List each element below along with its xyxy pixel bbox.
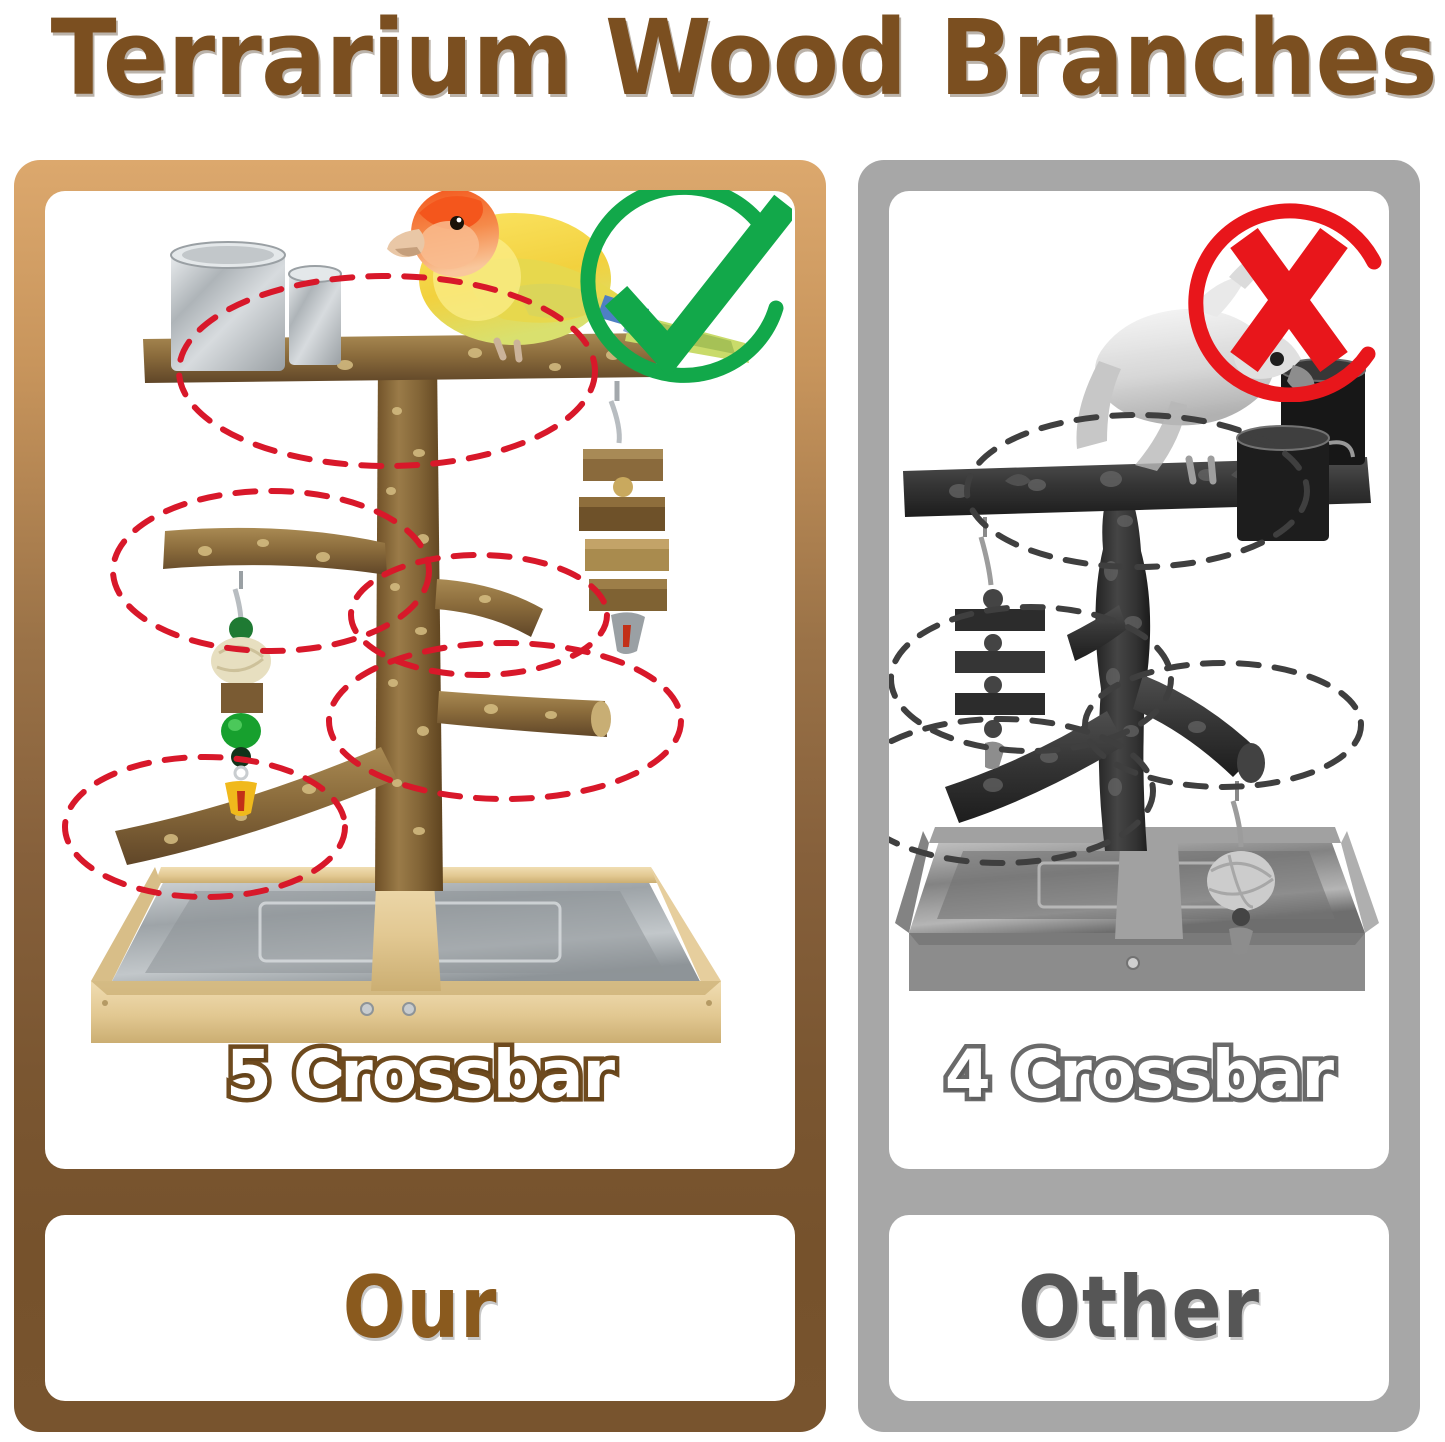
- footer-card-our: Our: [45, 1215, 795, 1401]
- red-cross-circle-icon: [1178, 196, 1400, 402]
- wood-ladder-toy: [955, 517, 1045, 769]
- footer-card-other: Other: [889, 1215, 1389, 1401]
- crossbar-right-low: [437, 691, 611, 737]
- page-title: Terrarium Wood Branches: [51, 2, 1395, 122]
- metal-tray-base: [895, 827, 1379, 991]
- bead-bell-toy: [211, 571, 271, 816]
- crossbar-right-short: [435, 579, 543, 637]
- dark-main-post: [1095, 473, 1150, 851]
- comparison-infographic: Terrarium Wood Branches: [0, 0, 1445, 1442]
- footer-label-our: Our: [98, 1215, 743, 1401]
- footer-label-other: Other: [924, 1215, 1354, 1401]
- wood-block-toy: [579, 381, 669, 654]
- caption-other: 4 Crossbar: [889, 1036, 1389, 1113]
- caption-our: 5 Crossbar: [45, 1036, 795, 1113]
- crossbar-left-diagonal: [945, 711, 1125, 823]
- crossbar-left-mid: [163, 528, 387, 575]
- green-check-circle-icon: [560, 190, 792, 402]
- crossbar-right-diagonal: [1133, 675, 1265, 783]
